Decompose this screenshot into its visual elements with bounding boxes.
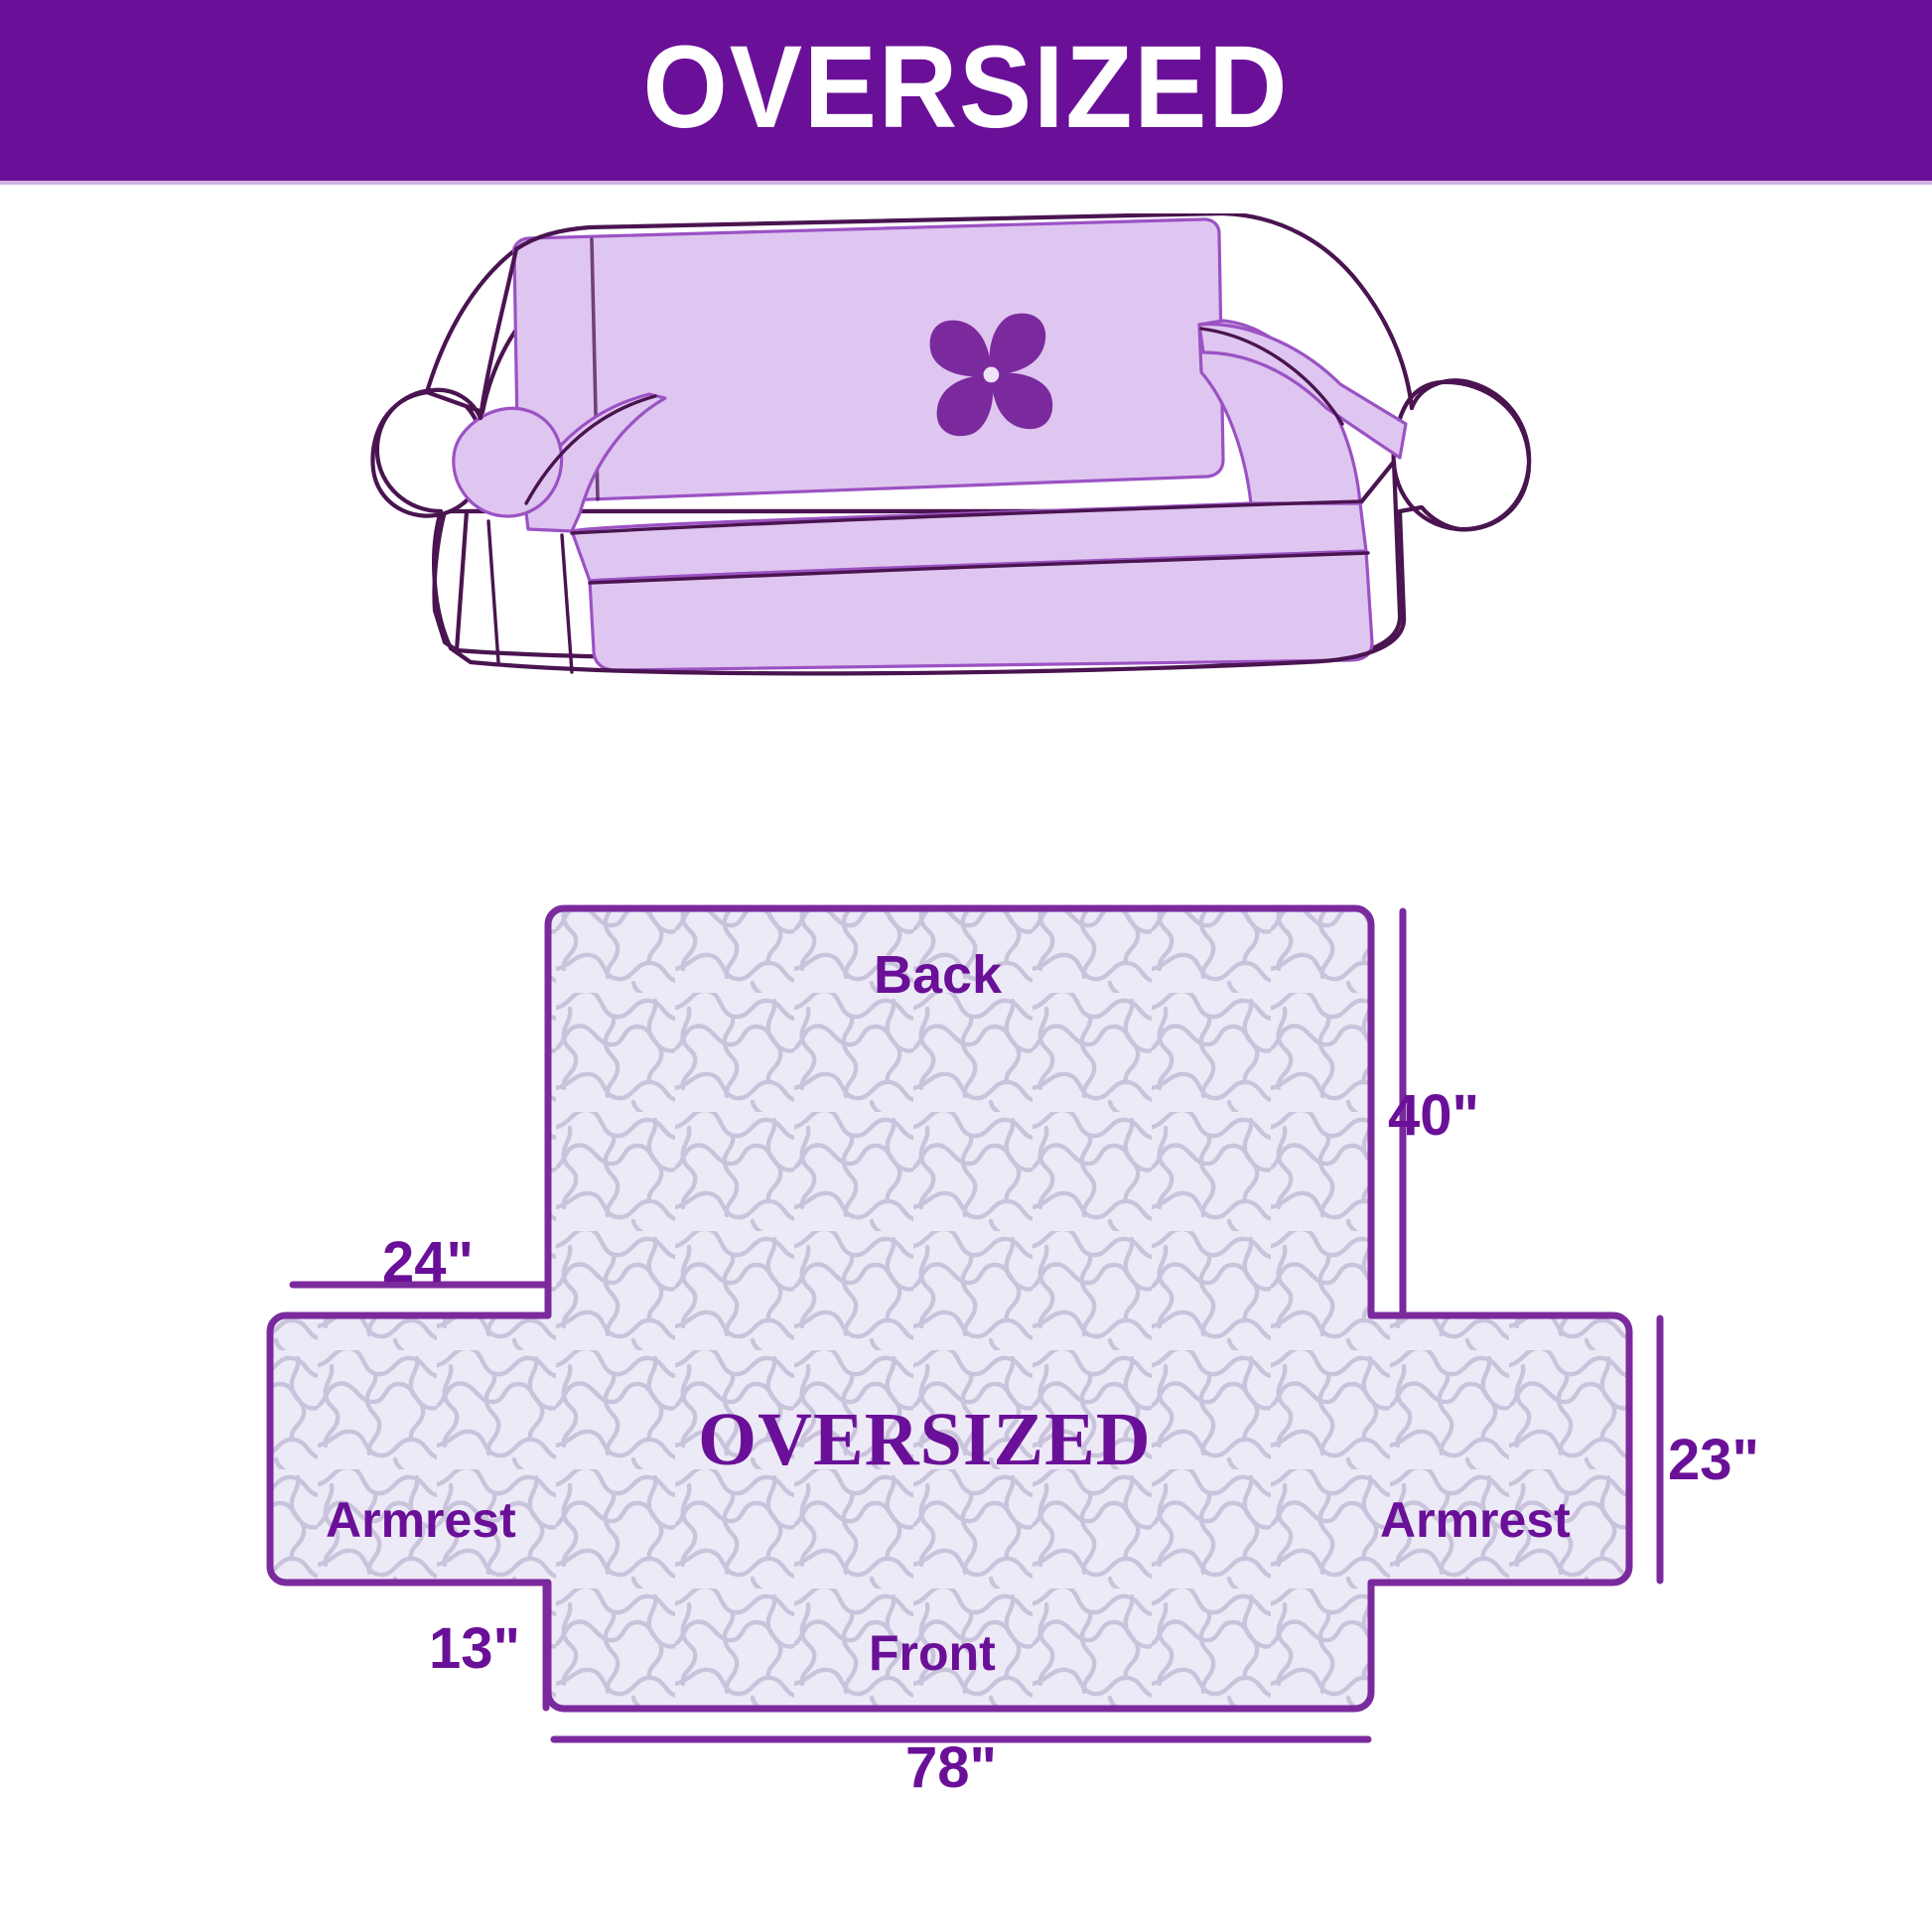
size-chart-page: OVERSIZED .ol { fill:none; stroke:#4A145… bbox=[0, 0, 1932, 1932]
panel-label-back: Back bbox=[874, 948, 1002, 1002]
page-title: OVERSIZED bbox=[643, 29, 1290, 146]
dimension-label-back-height: 40" bbox=[1388, 1087, 1479, 1145]
dimension-label-back-to-armrest: 24" bbox=[382, 1234, 474, 1292]
panel-label-front: Front bbox=[869, 1628, 996, 1678]
dimension-label-armrest-height: 23" bbox=[1668, 1432, 1759, 1489]
banner-underline bbox=[0, 181, 1932, 185]
panel-label-armrest-left: Armrest bbox=[326, 1495, 516, 1545]
dimension-label-front-drop: 13" bbox=[429, 1620, 520, 1678]
dimension-label-front-width: 78" bbox=[905, 1739, 997, 1797]
panel-label-oversized: OVERSIZED bbox=[698, 1402, 1152, 1477]
panel-label-armrest-right: Armrest bbox=[1380, 1495, 1571, 1545]
header-banner: OVERSIZED bbox=[0, 0, 1932, 181]
sofa-illustration: .ol { fill:none; stroke:#4A1450; stroke-… bbox=[367, 213, 1598, 710]
cover-outline bbox=[270, 908, 1629, 1709]
